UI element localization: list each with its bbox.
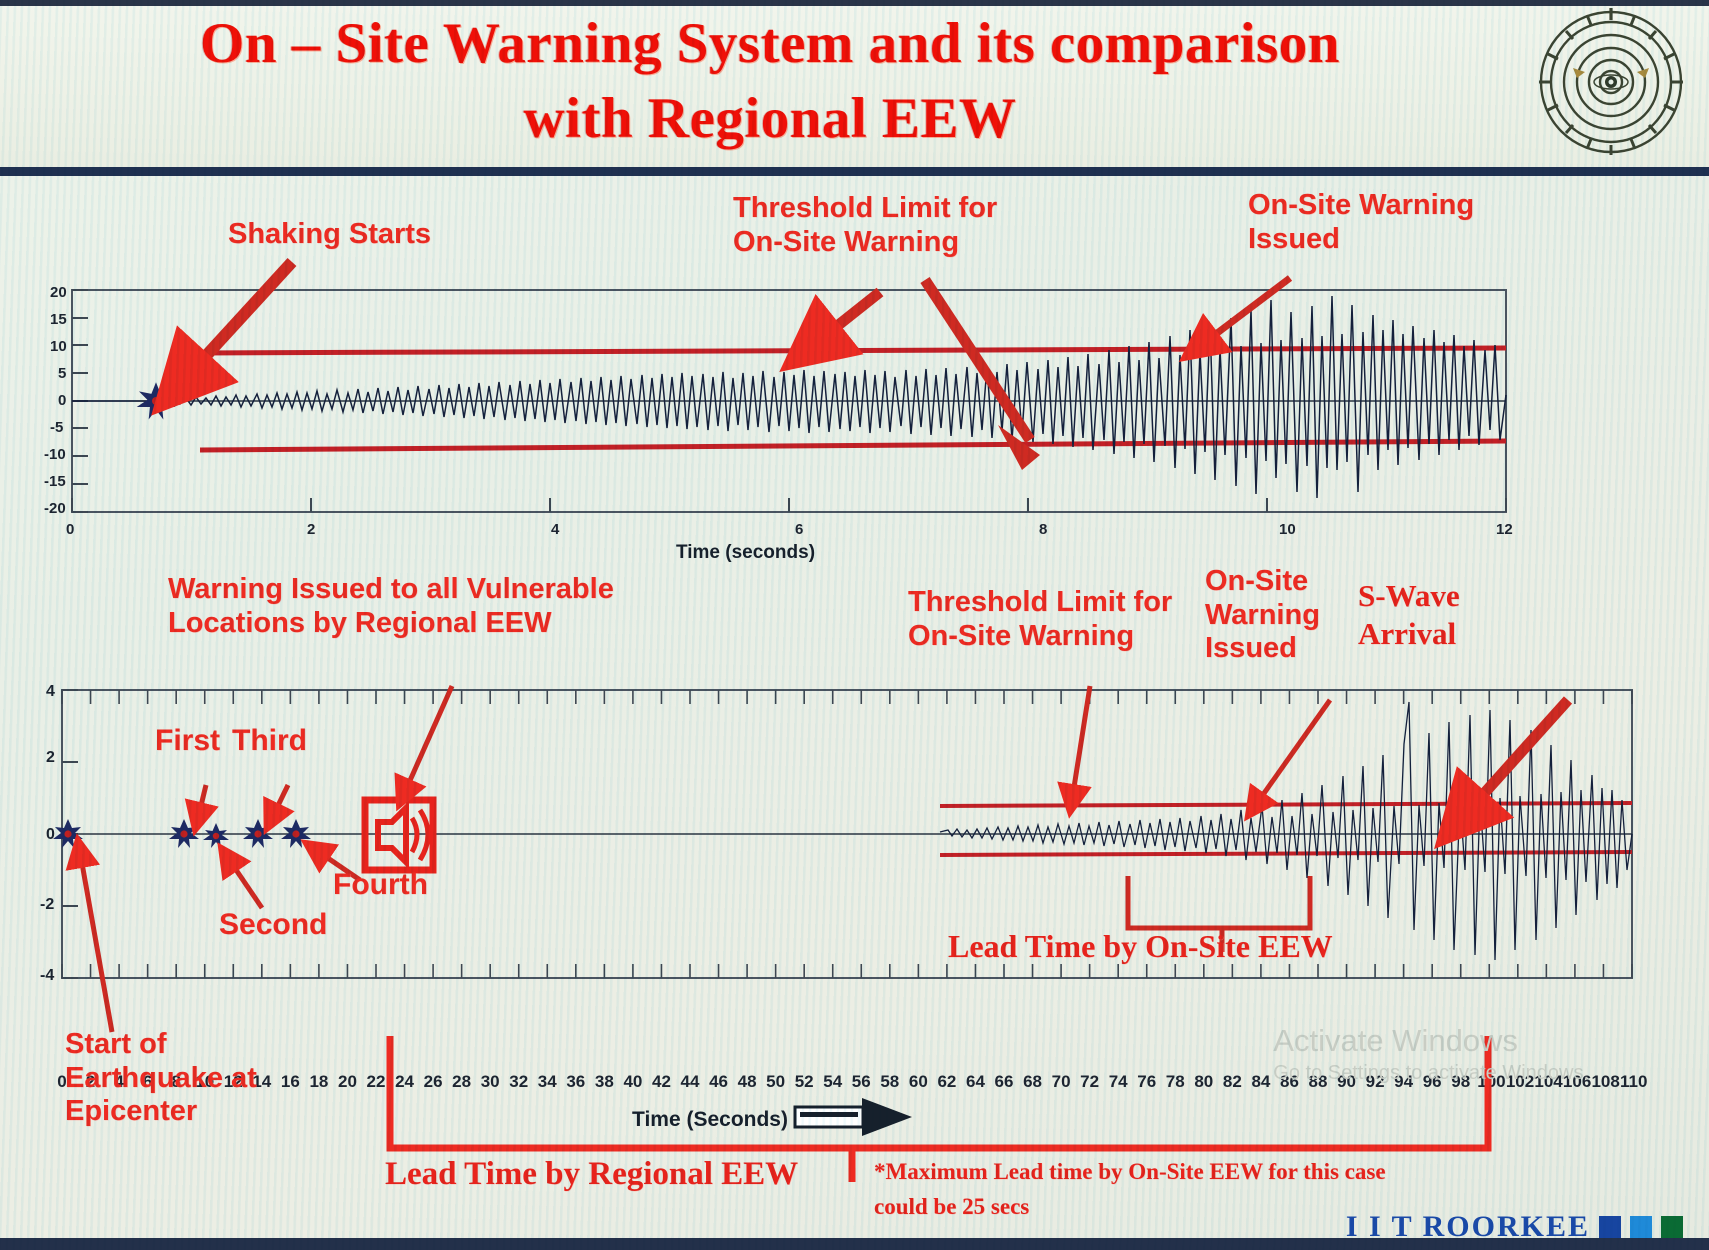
annotation-onsite-warning-issued-bottom: On-Site Warning Issued	[1205, 565, 1320, 666]
brand-swatch-3	[1661, 1216, 1683, 1238]
bot-ytick-4: 4	[46, 683, 55, 701]
bottom-xtick-34: 34	[535, 1072, 559, 1092]
annotation-start-of-earthquake: Start of Earthquake at Epicenter	[65, 1028, 257, 1129]
bottom-xtick-60: 60	[906, 1072, 930, 1092]
bot-ytick-m2: -2	[40, 896, 54, 914]
bottom-xtick-108: 108	[1591, 1072, 1615, 1092]
watermark-line2: Go to Settings to activate Windows.	[1273, 1061, 1589, 1086]
annotation-threshold-limit-bottom: Threshold Limit for On-Site Warning	[908, 586, 1172, 653]
annotation-s-wave-arrival: S-Wave Arrival	[1358, 577, 1460, 653]
annotation-threshold-limit-top: Threshold Limit for On-Site Warning	[733, 192, 997, 259]
bottom-xtick-28: 28	[450, 1072, 474, 1092]
bottom-xtick-40: 40	[621, 1072, 645, 1092]
bottom-xtick-70: 70	[1049, 1072, 1073, 1092]
bottom-xtick-50: 50	[764, 1072, 788, 1092]
bottom-xtick-20: 20	[335, 1072, 359, 1092]
bottom-xtick-66: 66	[992, 1072, 1016, 1092]
annotation-fourth: Fourth	[333, 868, 428, 903]
bottom-xtick-52: 52	[792, 1072, 816, 1092]
bottom-xtick-68: 68	[1021, 1072, 1045, 1092]
bottom-xtick-82: 82	[1220, 1072, 1244, 1092]
bottom-xtick-58: 58	[878, 1072, 902, 1092]
bottom-xtick-22: 22	[364, 1072, 388, 1092]
bottom-xtick-42: 42	[649, 1072, 673, 1092]
bottom-xtick-38: 38	[592, 1072, 616, 1092]
bottom-xtick-84: 84	[1249, 1072, 1273, 1092]
bottom-xtick-62: 62	[935, 1072, 959, 1092]
annotation-first: First	[155, 724, 220, 759]
windows-activation-watermark: Activate Windows Go to Settings to activ…	[1273, 1022, 1589, 1086]
annotation-footnote-max-lead-time: *Maximum Lead time by On-Site EEW for th…	[874, 1155, 1386, 1224]
annotation-second: Second	[219, 908, 327, 943]
annotation-third: Third	[232, 724, 307, 759]
bot-ytick-0: 0	[46, 826, 55, 844]
bottom-xtick-56: 56	[849, 1072, 873, 1092]
annotation-shaking-starts: Shaking Starts	[228, 218, 431, 252]
bottom-xtick-76: 76	[1135, 1072, 1159, 1092]
bottom-xtick-48: 48	[735, 1072, 759, 1092]
bottom-xtick-36: 36	[564, 1072, 588, 1092]
bottom-xtick-110: 110	[1620, 1072, 1644, 1092]
bottom-xtick-26: 26	[421, 1072, 445, 1092]
slide-bottom-bar	[0, 1238, 1709, 1250]
bottom-xtick-72: 72	[1078, 1072, 1102, 1092]
bottom-xtick-24: 24	[393, 1072, 417, 1092]
brand-swatch-2	[1630, 1216, 1652, 1238]
bottom-xtick-30: 30	[478, 1072, 502, 1092]
bot-ytick-m4: -4	[40, 967, 54, 985]
bottom-xtick-80: 80	[1192, 1072, 1216, 1092]
annotation-lead-time-onsite: Lead Time by On-Site EEW	[948, 928, 1333, 965]
bottom-xtick-32: 32	[507, 1072, 531, 1092]
bot-ytick-2: 2	[46, 749, 55, 767]
bottom-x-axis-title: Time (Seconds)	[632, 1108, 788, 1132]
annotation-regional-warning: Warning Issued to all Vulnerable Locatio…	[168, 573, 614, 640]
bottom-xtick-18: 18	[307, 1072, 331, 1092]
bottom-xtick-44: 44	[678, 1072, 702, 1092]
bottom-xtick-46: 46	[707, 1072, 731, 1092]
bottom-xtick-74: 74	[1106, 1072, 1130, 1092]
watermark-line1: Activate Windows	[1273, 1022, 1589, 1061]
bottom-xtick-54: 54	[821, 1072, 845, 1092]
bottom-xtick-78: 78	[1163, 1072, 1187, 1092]
bottom-xtick-64: 64	[963, 1072, 987, 1092]
bottom-xtick-16: 16	[278, 1072, 302, 1092]
slide-canvas: On – Site Warning System and its compari…	[0, 0, 1709, 1250]
annotation-onsite-warning-issued-top: On-Site Warning Issued	[1248, 189, 1474, 256]
brand-swatch-1	[1599, 1216, 1621, 1238]
annotation-lead-time-regional: Lead Time by Regional EEW	[385, 1155, 798, 1193]
